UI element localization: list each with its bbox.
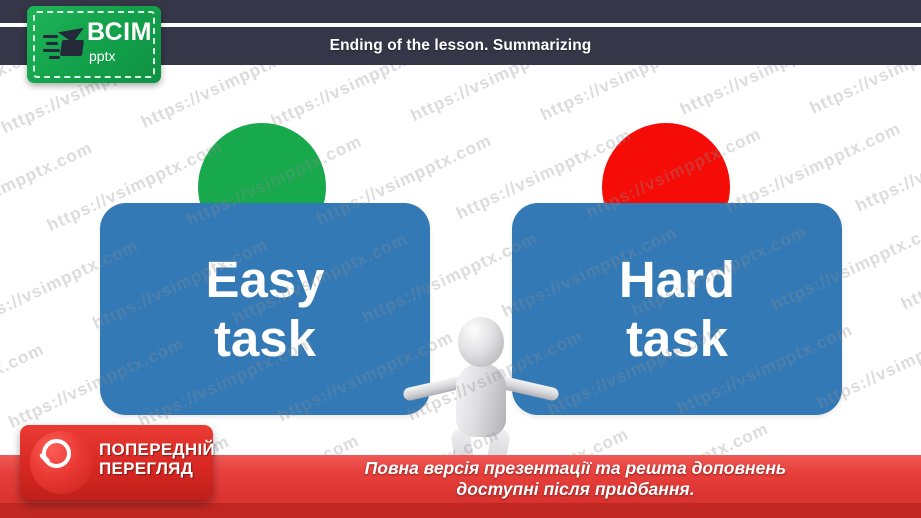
speed-line-1	[43, 35, 58, 38]
watermark-text: https://vsimpptx.com	[537, 65, 718, 124]
hard-task-line2: task	[626, 309, 728, 368]
watermark-text: https://vsimpptx.com	[0, 242, 1, 340]
hard-task-line1: Hard	[619, 250, 735, 309]
watermark-text: https://vsimpptx.com	[898, 216, 921, 314]
speed-line-4	[49, 56, 60, 59]
banner-line-2: доступні після придбання.	[456, 479, 694, 500]
speed-line-2	[46, 42, 58, 45]
banner-bottom-strip	[0, 503, 921, 518]
mannequin-right-arm	[497, 375, 560, 402]
watermark-text: https://vsimpptx.com	[138, 65, 319, 132]
preview-badge[interactable]: ПОПЕРЕДНІЙ ПЕРЕГЛЯД	[20, 425, 213, 500]
preview-badge-text: ПОПЕРЕДНІЙ ПЕРЕГЛЯД	[99, 440, 215, 478]
mannequin-torso	[456, 363, 506, 437]
watermark-text: https://vsimpptx.com	[807, 65, 921, 118]
easy-task-line2: task	[214, 309, 316, 368]
preview-badge-line-1: ПОПЕРЕДНІЙ	[99, 440, 215, 459]
watermark-text: https://vsimpptx.com	[0, 138, 95, 236]
watermark-text: https://vsimpptx.com	[268, 65, 449, 131]
logo-name: ВСІМ	[87, 20, 152, 45]
logo-subtitle: pptx	[89, 49, 152, 63]
easy-task-box: Easy task	[100, 203, 430, 415]
magnifier-icon	[36, 439, 70, 473]
banner-line-1: Повна версія презентації та решта доповн…	[365, 458, 787, 479]
watermark-text: https://vsimpptx.com	[723, 119, 904, 217]
watermark-text: https://vsimpptx.com	[0, 339, 47, 437]
logo-text: ВСІМ pptx	[87, 20, 152, 63]
purchase-banner-text: Повна версія презентації та решта доповн…	[230, 455, 921, 503]
graduation-cap-speed-icon	[43, 28, 87, 64]
watermark-text: https://vsimpptx.com	[677, 65, 858, 119]
presentation-slide-preview: Ending of the lesson. Summarizing Easy t…	[0, 0, 921, 518]
vsimpptx-logo[interactable]: ВСІМ pptx	[27, 6, 161, 83]
watermark-text: https://vsimpptx.com	[408, 65, 589, 125]
mannequin-head	[458, 317, 504, 367]
speed-line-3	[43, 49, 60, 52]
preview-badge-line-2: ПЕРЕГЛЯД	[99, 459, 215, 478]
watermark-text: https://vsimpptx.com	[852, 118, 921, 216]
easy-task-line1: Easy	[205, 250, 324, 309]
